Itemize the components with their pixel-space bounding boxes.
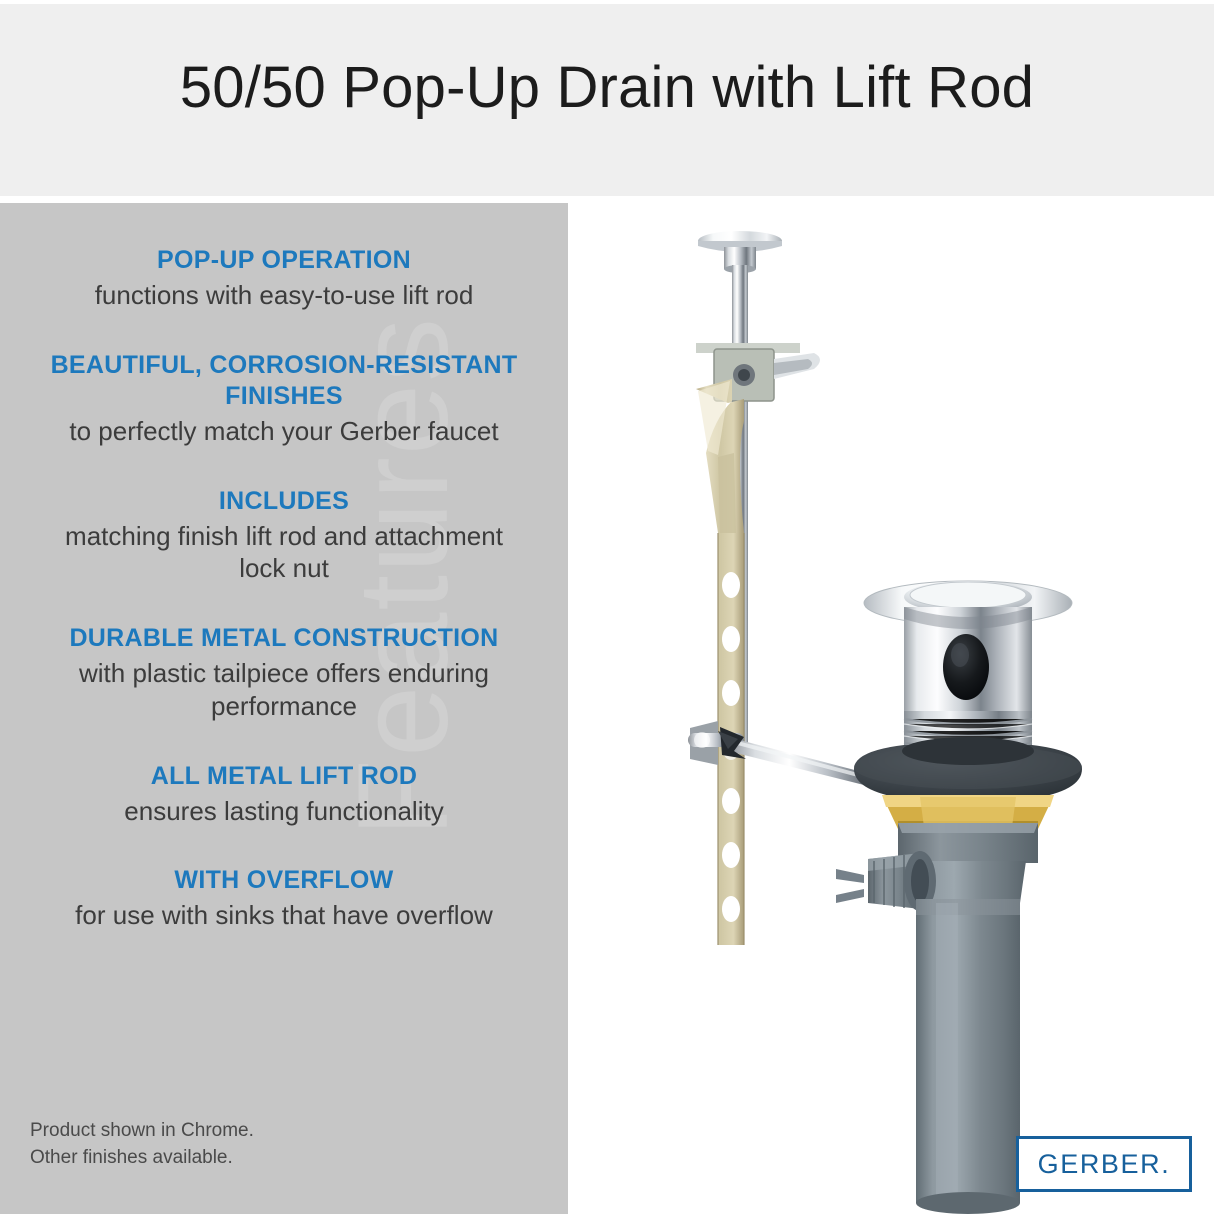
feature-heading: POP-UP OPERATION <box>40 245 528 276</box>
product-photo <box>568 203 1214 1214</box>
drain-body <box>904 607 1032 715</box>
lift-rod-assembly <box>688 231 920 945</box>
feature-description: with plastic tailpiece offers enduring p… <box>40 657 528 723</box>
feature-item-includes: INCLUDES matching finish lift rod and at… <box>40 486 528 586</box>
infographic-page: 50/50 Pop-Up Drain with Lift Rod Feature… <box>0 0 1214 1214</box>
feature-heading: BEAUTIFUL, CORROSION-RESISTANT FINISHES <box>40 350 528 412</box>
clevis-strap <box>696 379 744 945</box>
pop-up-drain-assembly <box>836 581 1082 1214</box>
feature-item-with-overflow: WITH OVERFLOW for use with sinks that ha… <box>40 865 528 932</box>
overflow-hole <box>943 634 989 700</box>
feature-heading: ALL METAL LIFT ROD <box>40 761 528 792</box>
feature-item-all-metal-lift-rod: ALL METAL LIFT ROD ensures lasting funct… <box>40 761 528 828</box>
disclaimer-line-2: Other finishes available. <box>30 1145 254 1172</box>
feature-description: ensures lasting functionality <box>40 795 528 828</box>
feature-item-corrosion-resistant-finishes: BEAUTIFUL, CORROSION-RESISTANT FINISHES … <box>40 350 528 448</box>
brand-registered-mark: . <box>1161 1149 1170 1179</box>
brand-name: GERBER <box>1038 1149 1162 1179</box>
feature-heading: DURABLE METAL CONSTRUCTION <box>40 623 528 654</box>
feature-description: functions with easy-to-use lift rod <box>40 279 528 312</box>
feature-heading: INCLUDES <box>40 486 528 517</box>
feature-description: matching finish lift rod and attachment … <box>40 520 528 586</box>
feature-description: for use with sinks that have overflow <box>40 899 528 932</box>
finish-disclaimer: Product shown in Chrome. Other finishes … <box>30 1118 254 1172</box>
page-title: 50/50 Pop-Up Drain with Lift Rod <box>0 54 1214 121</box>
feature-heading: WITH OVERFLOW <box>40 865 528 896</box>
gerber-wordmark: GERBER. <box>1038 1149 1171 1180</box>
feature-list: POP-UP OPERATION functions with easy-to-… <box>0 245 568 970</box>
feature-item-durable-metal-construction: DURABLE METAL CONSTRUCTION with plastic … <box>40 623 528 723</box>
plastic-tailpiece <box>916 899 1020 1214</box>
rubber-gasket <box>854 737 1082 799</box>
feature-description: to perfectly match your Gerber faucet <box>40 415 528 448</box>
disclaimer-line-1: Product shown in Chrome. <box>30 1118 254 1145</box>
header-band: 50/50 Pop-Up Drain with Lift Rod <box>0 4 1214 196</box>
features-sidebar: Features POP-UP OPERATION functions with… <box>0 203 568 1214</box>
feature-item-pop-up-operation: POP-UP OPERATION functions with easy-to-… <box>40 245 528 312</box>
gerber-logo: GERBER. <box>1016 1136 1192 1192</box>
product-image-stage: GERBER. <box>568 203 1214 1214</box>
